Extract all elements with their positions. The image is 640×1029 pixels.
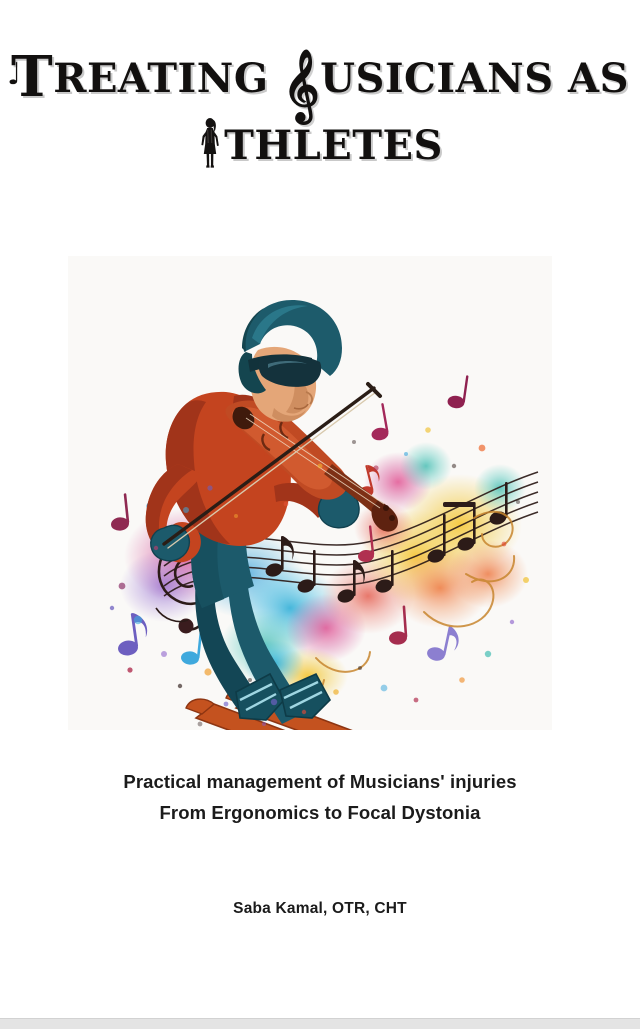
subtitle-line-2: From Ergonomics to Focal Dystonia	[0, 797, 640, 828]
subtitle-line-1: Practical management of Musicians' injur…	[0, 766, 640, 797]
title-word-athletes-rest: thletes	[224, 122, 443, 169]
title-line-1: ♩Treating 𝄞usicians as	[0, 52, 640, 106]
title-word-treating-rest: reating	[53, 55, 268, 102]
page-bottom-edge	[0, 1018, 640, 1029]
treble-clef-icon: 𝄞	[283, 48, 320, 121]
athlete-silhouette-icon	[197, 116, 223, 168]
cover-title: ♩Treating 𝄞usicians as	[0, 52, 640, 168]
author-name: Saba Kamal, OTR, CHT	[0, 900, 640, 918]
book-cover: ♩Treating 𝄞usicians as	[0, 0, 640, 1018]
title-word-as: as	[568, 55, 629, 102]
cover-illustration	[68, 256, 552, 730]
title-initial-t: ♩T	[11, 52, 53, 102]
cover-subtitle: Practical management of Musicians' injur…	[0, 766, 640, 828]
title-line-2: thletes	[0, 116, 640, 168]
title-word-musicians-rest: usicians	[320, 55, 554, 102]
